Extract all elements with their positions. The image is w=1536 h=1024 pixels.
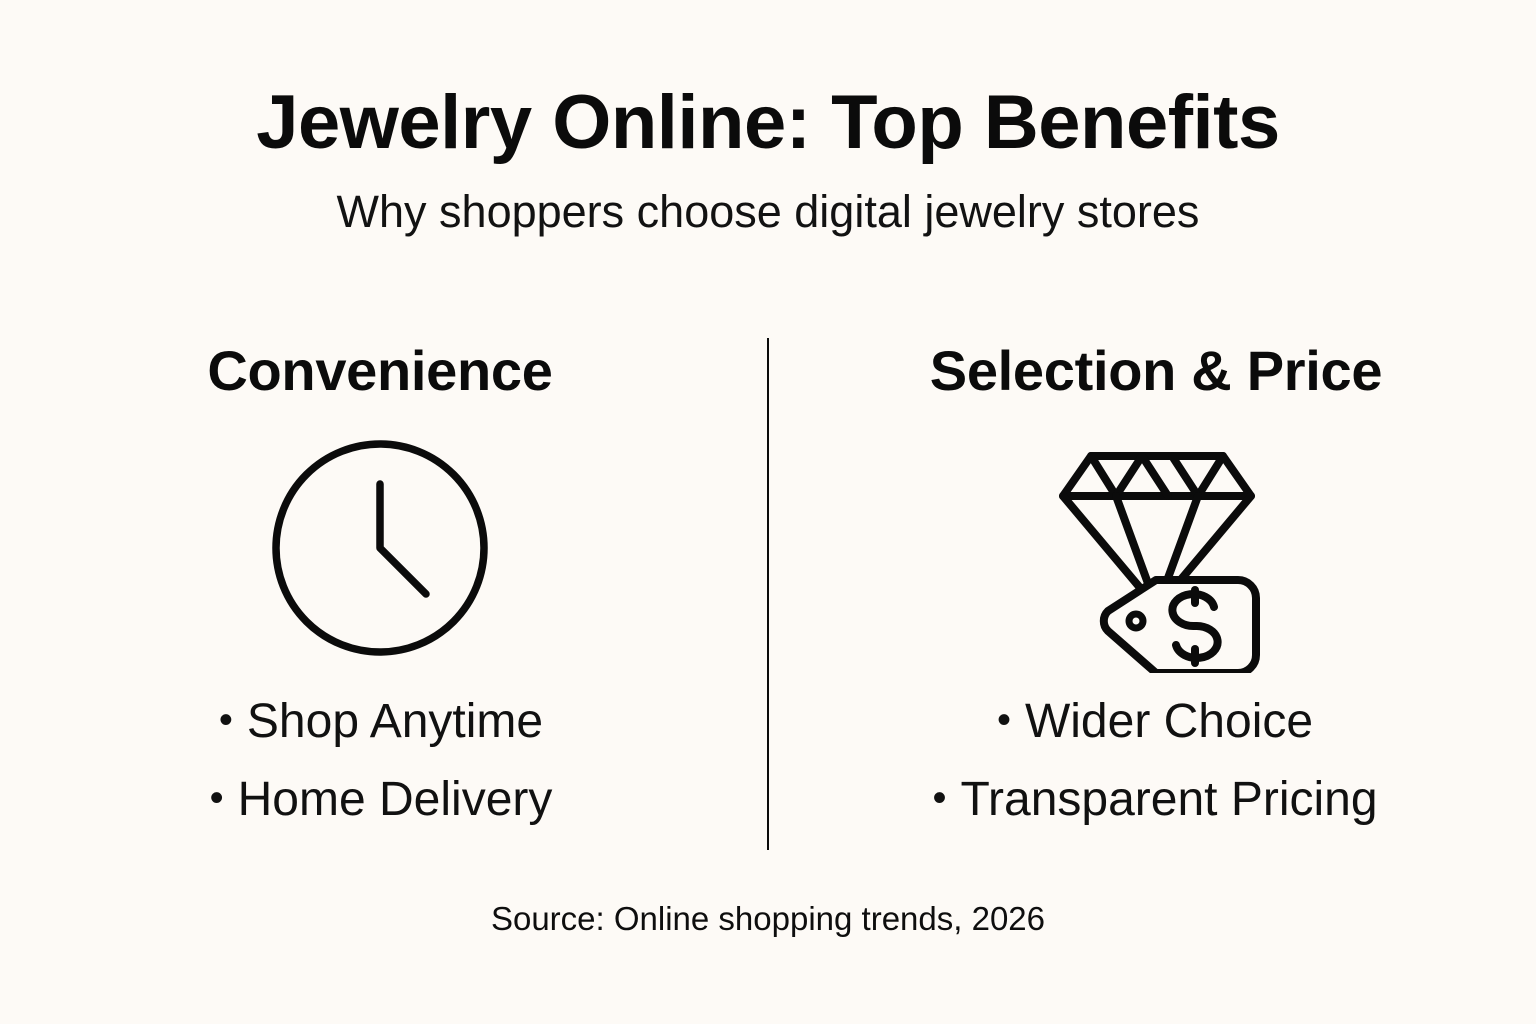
- bullet-marker-icon: •: [219, 700, 233, 740]
- diamond-price-tag-icon: [1032, 423, 1282, 673]
- benefit-column-convenience: Convenience •Shop Anytime •Home Delivery: [0, 330, 768, 860]
- list-item: •Shop Anytime: [210, 683, 553, 761]
- source-note: Source: Online shopping trends, 2026: [0, 900, 1536, 938]
- list-item-label: Shop Anytime: [247, 695, 543, 748]
- bullet-marker-icon: •: [932, 778, 946, 818]
- list-item-label: Wider Choice: [1025, 695, 1313, 748]
- list-item: •Wider Choice: [932, 683, 1377, 761]
- page-subtitle: Why shoppers choose digital jewelry stor…: [0, 188, 1536, 235]
- list-item: •Transparent Pricing: [932, 761, 1377, 839]
- benefit-columns: Convenience •Shop Anytime •Home Delivery…: [0, 330, 1536, 860]
- list-item: •Home Delivery: [210, 761, 553, 839]
- bullet-list-convenience: •Shop Anytime •Home Delivery: [210, 683, 553, 839]
- slide-canvas: Jewelry Online: Top Benefits Why shopper…: [0, 0, 1536, 1024]
- list-item-label: Home Delivery: [238, 773, 553, 826]
- bullet-list-selection-price: •Wider Choice •Transparent Pricing: [932, 683, 1377, 839]
- bullet-marker-icon: •: [210, 778, 224, 818]
- header: Jewelry Online: Top Benefits Why shopper…: [0, 84, 1536, 235]
- benefit-column-selection-price: Selection & Price: [768, 330, 1536, 860]
- column-heading-selection-price: Selection & Price: [930, 342, 1382, 401]
- column-heading-convenience: Convenience: [207, 342, 552, 401]
- bullet-marker-icon: •: [997, 700, 1011, 740]
- clock-icon: [269, 423, 491, 673]
- list-item-label: Transparent Pricing: [960, 773, 1377, 826]
- page-title: Jewelry Online: Top Benefits: [0, 84, 1536, 162]
